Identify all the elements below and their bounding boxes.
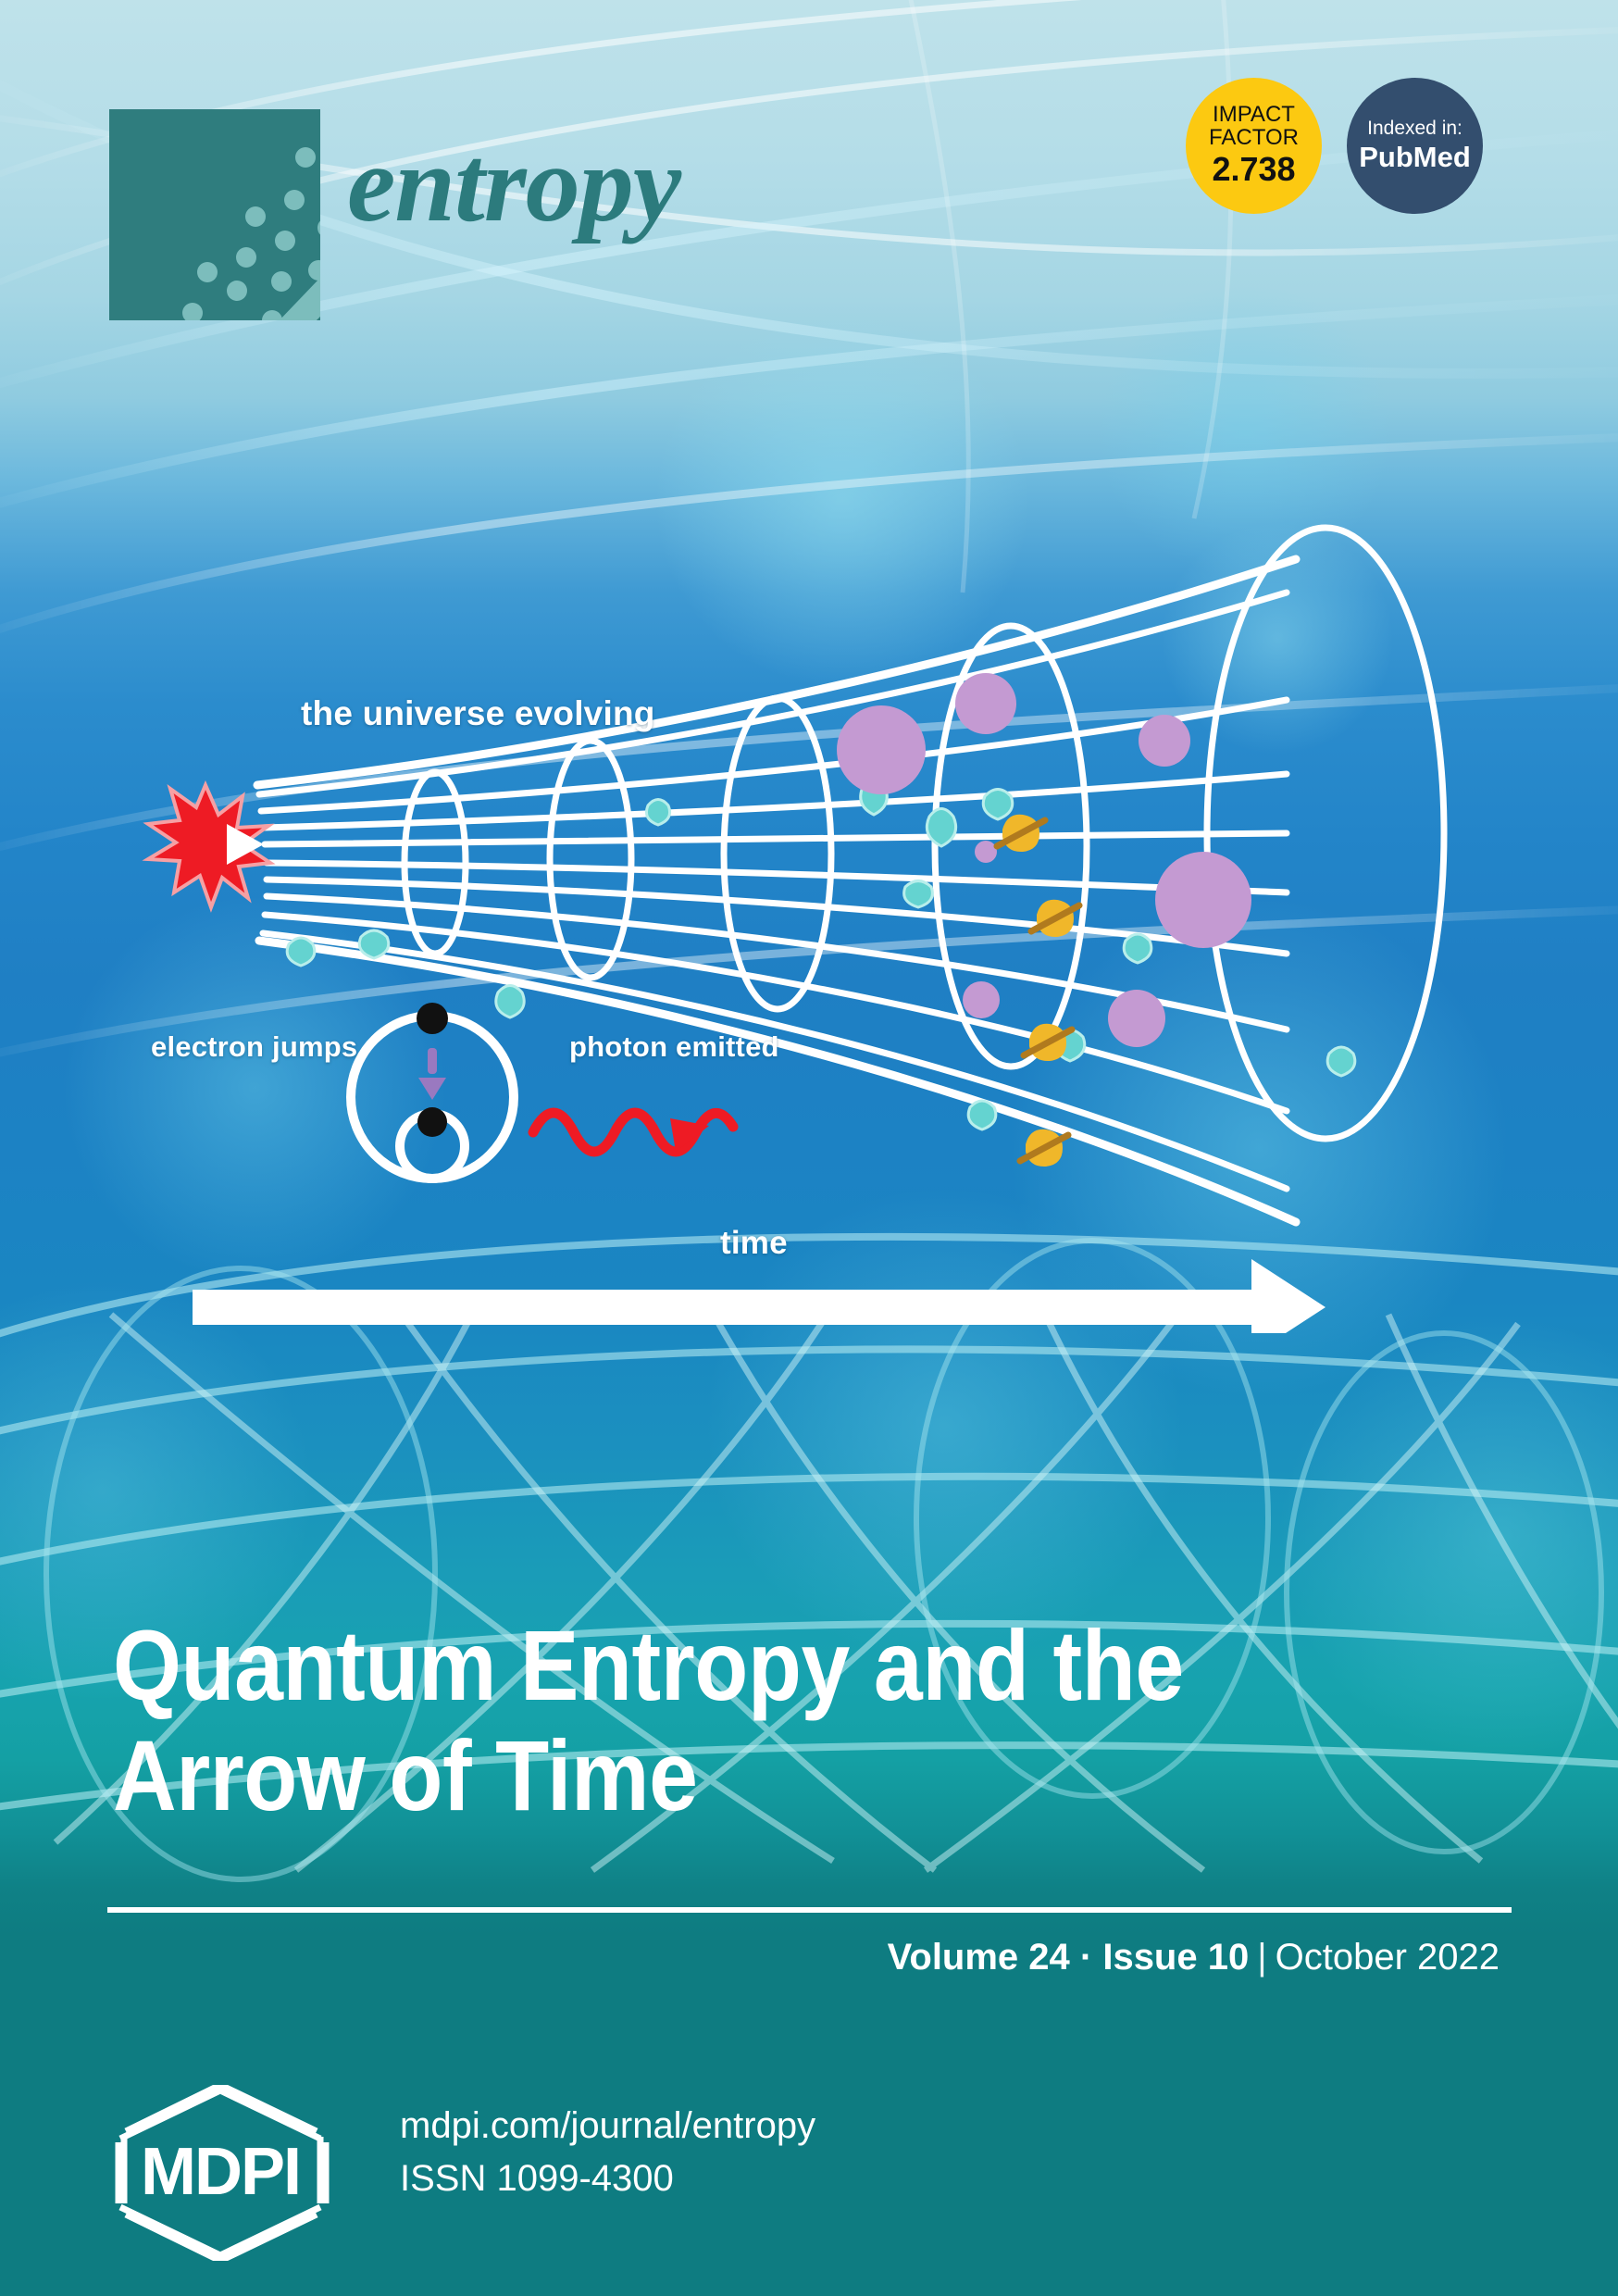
issue-date: October 2022 [1276, 1937, 1500, 1978]
issn: ISSN 1099-4300 [400, 2152, 815, 2205]
cover-title-line2: Arrow of Time [113, 1721, 1270, 1831]
pubmed-label: PubMed [1359, 141, 1471, 174]
electron-jump-arrow-icon [418, 1048, 446, 1100]
label-electron-jumps: electron jumps [151, 1030, 357, 1064]
label-photon-emitted: photon emitted [569, 1030, 779, 1064]
entropy-logo-mark [109, 109, 320, 320]
atom-orbits-icon [351, 1003, 514, 1179]
journal-cover: entropy IMPACT FACTOR 2.738 Indexed in: … [0, 0, 1618, 2296]
volume-issue-line: Volume 24 · Issue 10|October 2022 [888, 1937, 1500, 1978]
svg-text:MDPI: MDPI [141, 2135, 300, 2209]
indexed-label: Indexed in: [1367, 118, 1462, 139]
journal-url[interactable]: mdpi.com/journal/entropy [400, 2100, 815, 2152]
mdpi-hexagon-icon: MDPI [111, 2085, 356, 2261]
time-arrow-icon [193, 1259, 1326, 1333]
cover-title-line1: Quantum Entropy and the [113, 1611, 1270, 1721]
impact-factor-badge: IMPACT FACTOR 2.738 [1186, 78, 1322, 214]
cover-title: Quantum Entropy and the Arrow of Time [113, 1611, 1270, 1831]
volume-separator: | [1249, 1937, 1275, 1978]
cover-illustration [0, 518, 1618, 1333]
impact-factor-line2: FACTOR [1209, 127, 1299, 150]
photon-wave-icon [533, 1113, 733, 1152]
label-time: time [720, 1225, 788, 1262]
logo-dots-icon [109, 109, 320, 320]
footer-text: mdpi.com/journal/entropy ISSN 1099-4300 [400, 2100, 815, 2205]
entropy-wordmark: entropy [347, 130, 680, 239]
mdpi-logo[interactable]: MDPI [111, 2085, 356, 2261]
impact-factor-value: 2.738 [1212, 151, 1295, 188]
impact-factor-line1: IMPACT [1213, 104, 1295, 127]
pubmed-badge: Indexed in: PubMed [1347, 78, 1483, 214]
title-divider-rule [107, 1907, 1512, 1913]
label-universe-evolving: the universe evolving [301, 694, 655, 733]
particle-group-purple [837, 673, 1251, 1047]
volume-issue: Volume 24 · Issue 10 [888, 1937, 1250, 1978]
